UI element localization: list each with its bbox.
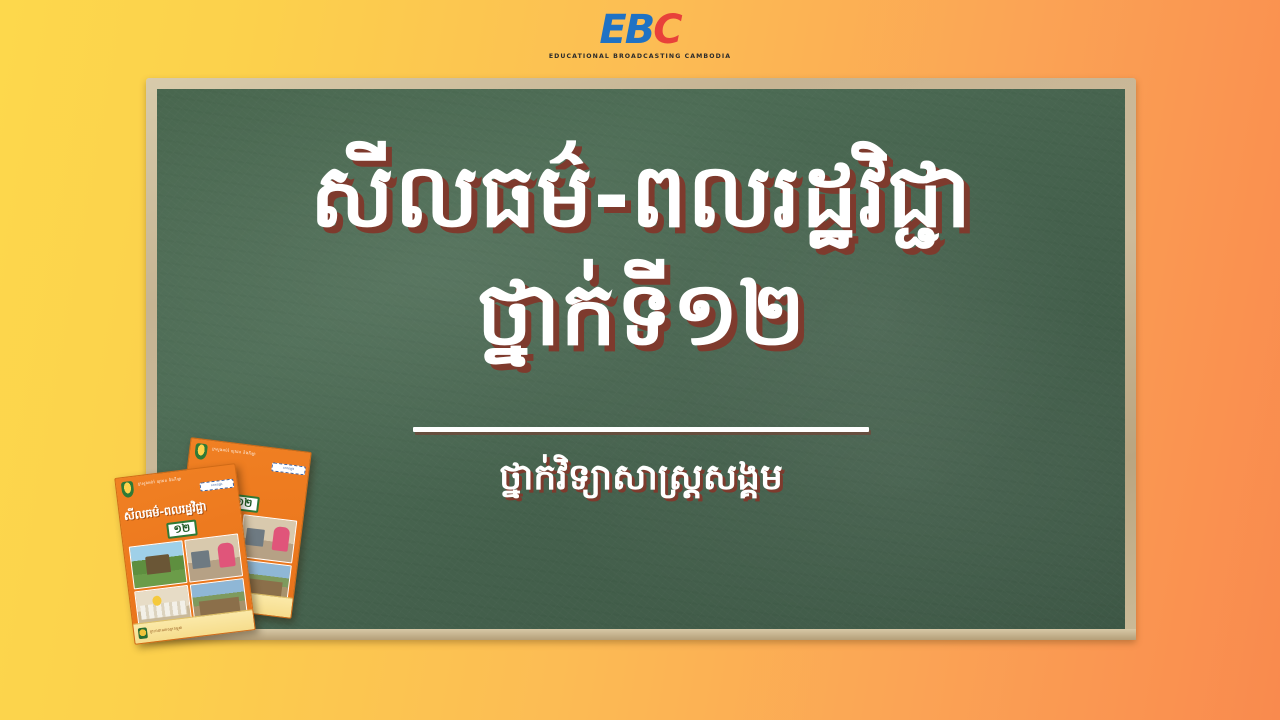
lesson-title-line-1: សីលធម៌-ពលរដ្ឋវិជ្ជា bbox=[310, 145, 972, 247]
ebc-logo-letters: E B C bbox=[599, 10, 680, 50]
book-author-line: ក្រសួងអប់រំ យុវជន និងកីឡា bbox=[212, 447, 306, 464]
book-footer-emblem-icon bbox=[138, 627, 148, 639]
cambodia-emblem-icon bbox=[121, 481, 135, 498]
book-footer-text: ព្រះរាជាណាចក្រកម្ពុជា bbox=[150, 626, 183, 635]
book-stamp: សាកល្បង bbox=[271, 462, 306, 475]
book-photo-temple bbox=[129, 540, 188, 589]
book-grade-badge: ១២ bbox=[166, 519, 198, 539]
textbook-stack: ក្រសួងអប់រំ យុវជន និងកីឡា សាកល្បង ពលរដ្ឋ… bbox=[118, 440, 328, 645]
cambodia-emblem-icon bbox=[194, 443, 208, 460]
ebc-logo-tagline: EDUCATIONAL BROADCASTING CAMBODIA bbox=[549, 53, 731, 60]
logo-letter-b: B bbox=[625, 10, 654, 50]
lesson-title-line-2: ថ្នាក់ទី១២ bbox=[477, 263, 806, 365]
title-divider bbox=[413, 427, 869, 432]
logo-letter-e: E bbox=[599, 10, 624, 50]
logo-letter-c: C bbox=[653, 10, 680, 50]
book-stamp: សាកល្បង bbox=[199, 479, 234, 492]
textbook-cover-front: ក្រសួងអប់រំ យុវជន និងកីឡា សាកល្បង សីលធម៌… bbox=[114, 463, 256, 645]
book-stamp-label: សាកល្បង bbox=[272, 463, 305, 474]
lesson-subtitle: ថ្នាក់វិទ្យាសាស្ត្រសង្គម bbox=[499, 454, 783, 507]
book-photo-computer bbox=[238, 514, 297, 563]
book-photo-computer bbox=[184, 533, 243, 582]
ebc-logo: E B C EDUCATIONAL BROADCASTING CAMBODIA bbox=[0, 10, 1280, 60]
book-stamp-label: សាកល្បង bbox=[201, 480, 234, 491]
